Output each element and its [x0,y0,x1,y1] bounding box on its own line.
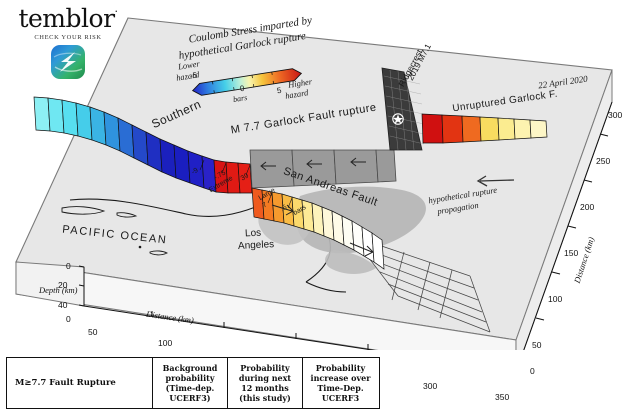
right-tick-250: 250 [596,156,610,166]
right-tick-200: 200 [580,202,594,212]
right-tick-150: 150 [564,248,578,258]
col2-line3: UCERF3 [311,393,371,403]
probability-table: M≥7.7 Fault Rupture Background probabili… [6,357,380,409]
col0-line3: UCERF3) [163,393,218,403]
col0-line1: probability [163,373,218,383]
col0-line2: (Time-dep. [163,383,218,393]
map-label-los-angeles-line2: Angeles [238,239,275,252]
col2-line0: Probability [311,363,371,373]
col1-line2: 12 months [239,383,291,393]
depth-tick-0: 0 [66,261,71,271]
front-tick-350: 350 [495,392,509,402]
col0-line0: Background [163,363,218,373]
col2-line2: Time-Dep. [311,383,371,393]
right-tick-100: 100 [548,294,562,304]
table-row-label-cell: M≥7.7 Fault Rupture [7,358,153,408]
rupture-direction-arrow-icon [470,174,516,190]
map-label-los-angeles-line1: Los [245,228,262,240]
front-tick-100: 100 [158,338,172,348]
front-tick-0: 0 [66,314,71,324]
table-row-label: M≥7.7 Fault Rupture [15,378,116,388]
colorbar-min-label: -5 [189,70,197,80]
table-header-background-probability: Background probability (Time-dep. UCERF3… [153,358,228,408]
front-tick-50: 50 [88,327,97,337]
col2-line1: increase over [311,373,371,383]
table-header-probability-next-12-months: Probability during next 12 months (this … [228,358,303,408]
col1-line1: during next [239,373,291,383]
right-tick-50: 50 [532,340,541,350]
block-left-face [16,262,84,306]
coulomb-stress-block-diagram [0,0,641,350]
right-tick-300: 300 [608,110,622,120]
depth-axis-name: Depth (km) [39,285,77,295]
col1-line3: (this study) [239,393,291,403]
front-tick-300: 300 [423,381,437,391]
table-header-probability-increase: Probability increase over Time-Dep. UCER… [303,358,378,408]
depth-tick-40: 40 [58,300,67,310]
right-origin-0: 0 [530,366,535,376]
col1-line0: Probability [239,363,291,373]
